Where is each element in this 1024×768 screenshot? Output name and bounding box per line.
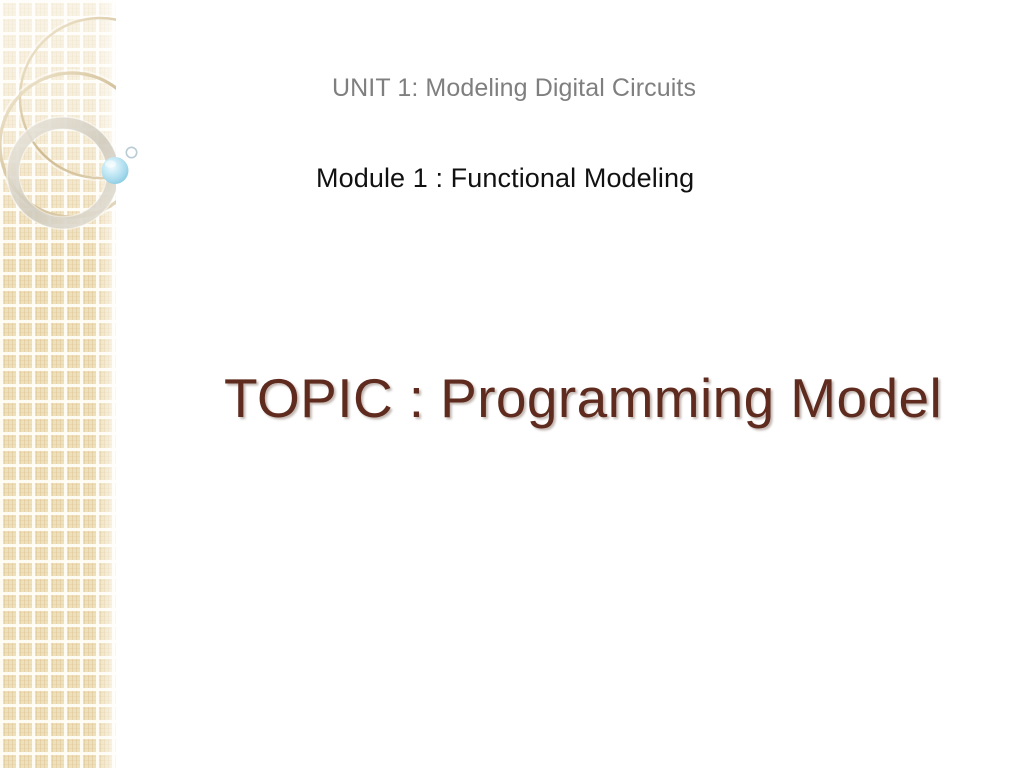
presentation-slide: UNIT 1: Modeling Digital Circuits Module…	[0, 0, 1024, 768]
module-heading: Module 1 : Functional Modeling	[316, 163, 694, 194]
slide-body-area	[124, 460, 1024, 760]
decorative-rings-group	[0, 0, 200, 300]
large-thin-arc	[17, 15, 182, 180]
page-title: TOPIC : Programming Model	[224, 366, 942, 430]
unit-heading: UNIT 1: Modeling Digital Circuits	[332, 74, 696, 103]
blue-sphere-icon	[102, 157, 129, 184]
small-hollow-circle-icon	[126, 147, 136, 157]
blue-sphere-highlight	[105, 160, 116, 168]
